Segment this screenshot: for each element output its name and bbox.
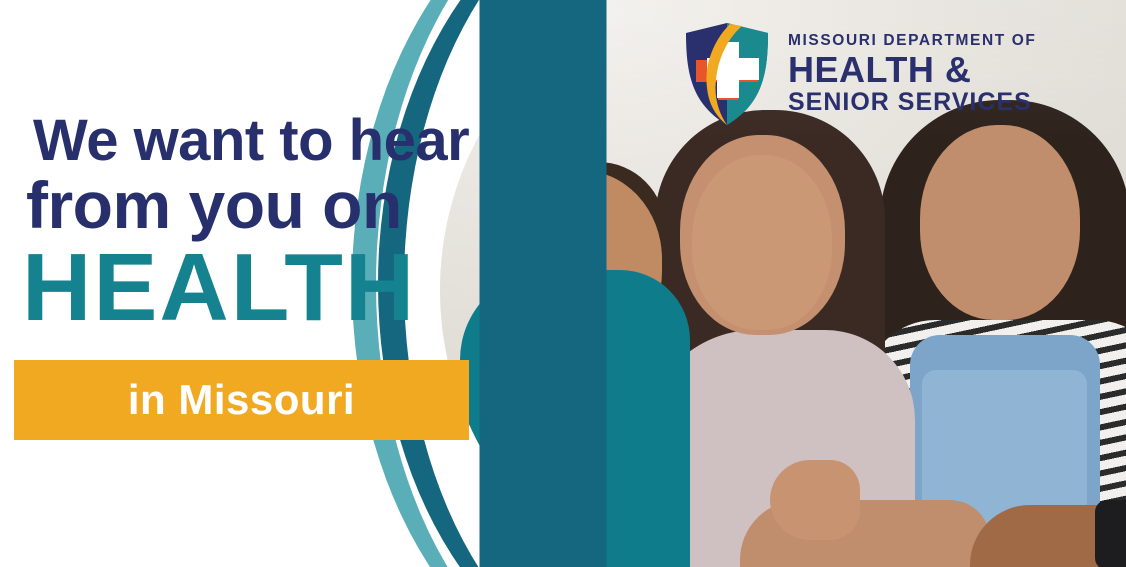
in-missouri-banner[interactable]: in Missouri	[14, 360, 469, 440]
headline-line-1: We want to hear	[33, 110, 469, 172]
logo-wordmark: MISSOURI DEPARTMENT OF HEALTH & SENIOR S…	[788, 32, 1036, 116]
logo-line-3: SENIOR SERVICES	[788, 89, 1036, 116]
in-missouri-label: in Missouri	[128, 376, 355, 424]
mo-dhss-logo[interactable]: MISSOURI DEPARTMENT OF HEALTH & SENIOR S…	[684, 22, 1036, 126]
shield-cross-icon	[684, 22, 770, 126]
headline-line-2: from you on	[26, 170, 402, 240]
logo-line-2: HEALTH &	[788, 52, 1036, 88]
headline-line-3-health: HEALTH	[22, 238, 416, 338]
health-survey-banner: We want to hear from you on HEALTH in Mi…	[0, 0, 1126, 567]
logo-line-1: MISSOURI DEPARTMENT OF	[788, 32, 1036, 50]
